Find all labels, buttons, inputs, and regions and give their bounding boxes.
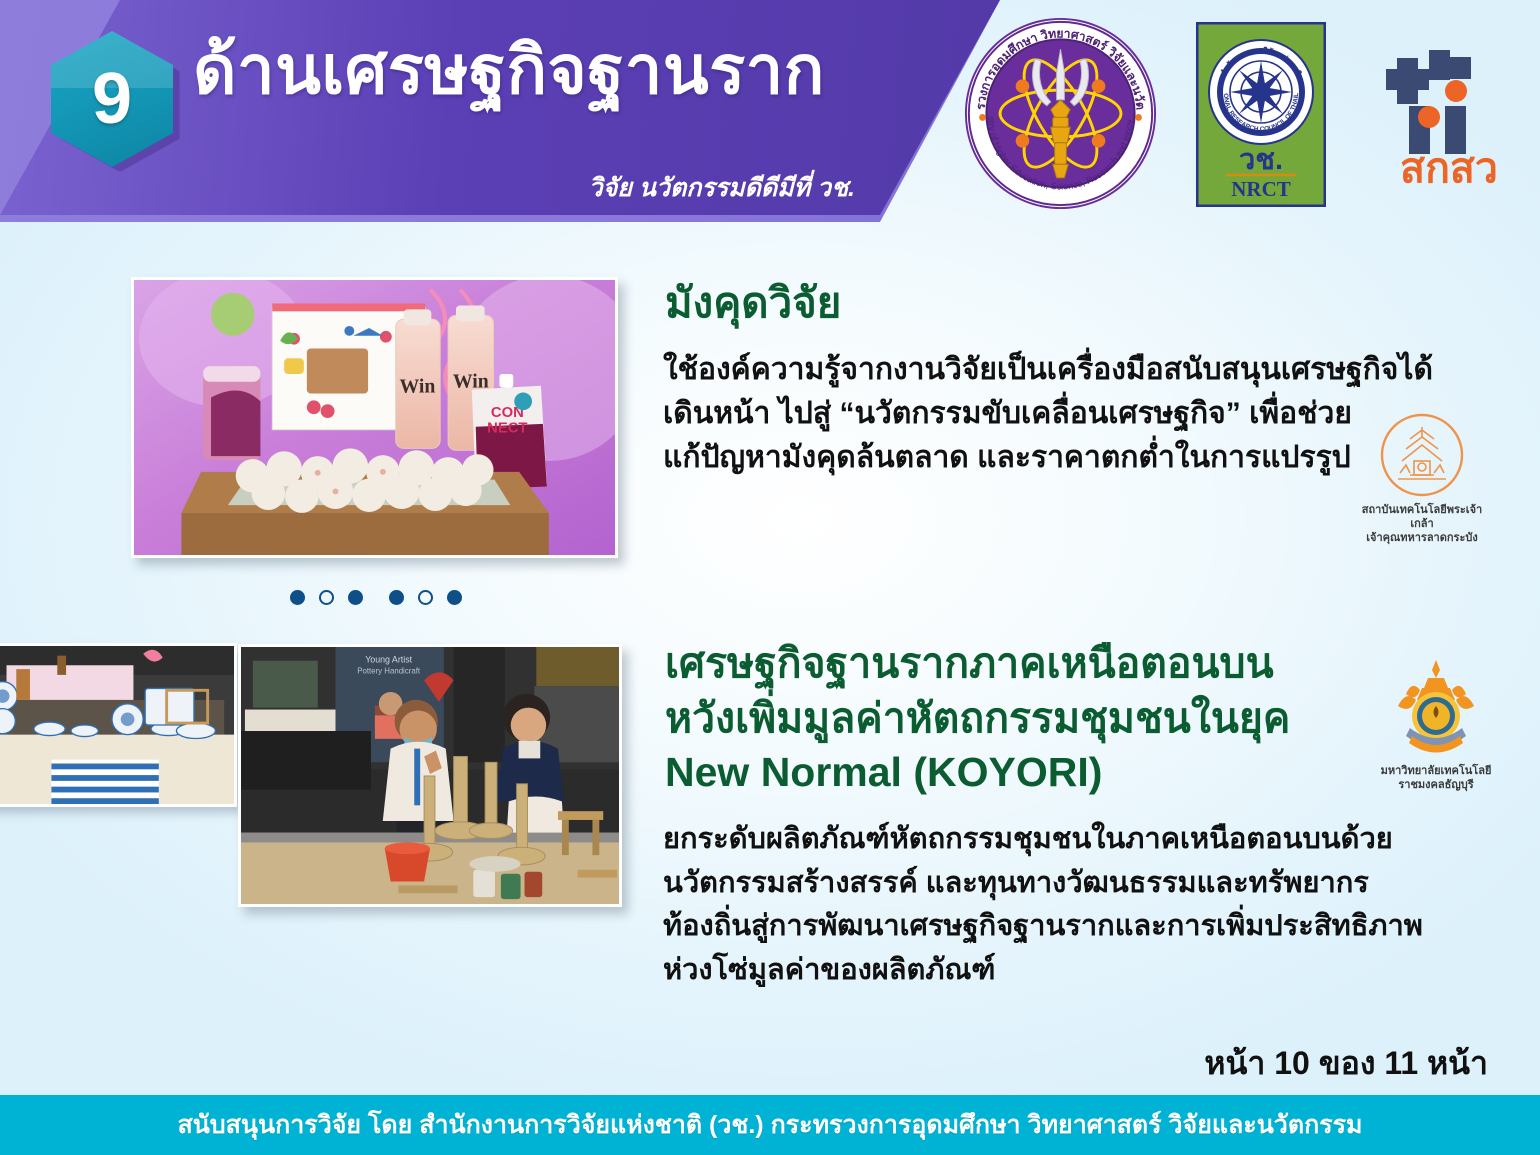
- section-2-body-line: ท้องถิ่นสู่การพัฒนาเศรษฐกิจฐานรากและการเ…: [663, 905, 1423, 949]
- badge-number: 9: [51, 31, 173, 167]
- kmitl-seal-icon: [1380, 413, 1464, 497]
- svg-text:NECT: NECT: [487, 421, 527, 437]
- footer-text: สนับสนุนการวิจัย โดย สำนักงานการวิจัยแห่…: [177, 1105, 1362, 1145]
- carousel-dot[interactable]: [418, 590, 433, 605]
- section-1-university: สถาบันเทคโนโลยีพระเจ้าเกล้า เจ้าคุณทหารล…: [1358, 413, 1486, 545]
- section-number-badge: 9: [48, 28, 178, 173]
- page-header: 9 ด้านเศรษฐกิจฐานราก วิจัย นวัตกรรมดีดีม…: [0, 0, 1540, 222]
- section-1-university-caption: สถาบันเทคโนโลยีพระเจ้าเกล้า เจ้าคุณทหารล…: [1358, 504, 1486, 545]
- section-2-body-line: ห่วงโซ่มูลค่าของผลิตภัณฑ์: [663, 949, 1423, 993]
- carousel-dot[interactable]: [389, 590, 404, 605]
- svg-text:Win: Win: [400, 376, 436, 398]
- section-2-title-line: New Normal (KOYORI): [665, 745, 1385, 800]
- svg-text:สกสว: สกสว: [1400, 145, 1498, 189]
- svg-text:NRCT: NRCT: [1231, 177, 1291, 201]
- header-subtitle: วิจัย นวัตกรรมดีดีมีที่ วช.: [565, 168, 855, 208]
- carousel-dot[interactable]: [290, 590, 305, 605]
- section-1-body-line: แก้ปัญหามังคุดล้นตลาด และราคาตกต่ำในการแ…: [663, 436, 1393, 480]
- infographic-page: 9 ด้านเศรษฐกิจฐานราก วิจัย นวัตกรรมดีดีม…: [0, 0, 1540, 1155]
- section-2-body-line: ยกระดับผลิตภัณฑ์หัตถกรรมชุมชนในภาคเหนือต…: [663, 818, 1423, 862]
- carousel-dot[interactable]: [348, 590, 363, 605]
- section-2-university-caption: มหาวิทยาลัยเทคโนโลยี ราชมงคลธัญบุรี: [1374, 765, 1498, 793]
- carousel-dot[interactable]: [447, 590, 462, 605]
- section-2-title-line: เศรษฐกิจฐานรากภาคเหนือตอนบน: [665, 636, 1385, 691]
- section-1-body-line: เดินหน้า ไปสู่ “นวัตกรรมขับเคลื่อนเศรษฐก…: [663, 392, 1393, 436]
- svg-text:Young Artist: Young Artist: [365, 655, 412, 665]
- section-2-title-line: หวังเพิ่มมูลค่าหัตถกรรมชุมชนในยุค: [665, 691, 1385, 746]
- svg-text:วช.: วช.: [1239, 144, 1283, 176]
- section-2-body-line: นวัตกรรมสร้างสรรค์ และทุนทางวัฒนธรรมและท…: [663, 862, 1423, 906]
- section-2-university: มหาวิทยาลัยเทคโนโลยี ราชมงคลธัญบุรี: [1374, 658, 1498, 793]
- section-2-photo-right: Young Artist Pottery Handicraft: [238, 644, 622, 907]
- page-footer: สนับสนุนการวิจัย โดย สำนักงานการวิจัยแห่…: [0, 1095, 1540, 1155]
- rmutt-seal-icon: [1388, 658, 1484, 758]
- section-1-photo: Win Win CON NECT: [131, 277, 618, 558]
- section-2-body: ยกระดับผลิตภัณฑ์หัตถกรรมชุมชนในภาคเหนือต…: [663, 818, 1423, 992]
- page-title: ด้านเศรษฐกิจฐานราก: [193, 36, 825, 106]
- nrct-logo: สำนักงานการวิจัยแห่งชาติ NATIONAL RESEAR…: [1196, 22, 1326, 207]
- tsri-logo: สกสว: [1383, 44, 1515, 189]
- mhesi-logo: กระทรวงการอุดมศึกษา วิทยาศาสตร์ วิจัยและ…: [963, 16, 1158, 211]
- carousel-dot[interactable]: [319, 590, 334, 605]
- svg-text:Pottery Handicraft: Pottery Handicraft: [357, 666, 421, 675]
- carousel-dots[interactable]: [290, 590, 462, 605]
- section-2-photo-left: [0, 643, 237, 807]
- section-1-body: ใช้องค์ความรู้จากงานวิจัยเป็นเครื่องมือส…: [663, 348, 1393, 480]
- page-indicator: หน้า 10 ของ 11 หน้า: [1204, 1038, 1488, 1089]
- section-1-body-line: ใช้องค์ความรู้จากงานวิจัยเป็นเครื่องมือส…: [663, 348, 1393, 392]
- section-1-title: มังคุดวิจัย: [665, 280, 841, 326]
- section-2-title: เศรษฐกิจฐานรากภาคเหนือตอนบน หวังเพิ่มมูล…: [665, 636, 1385, 800]
